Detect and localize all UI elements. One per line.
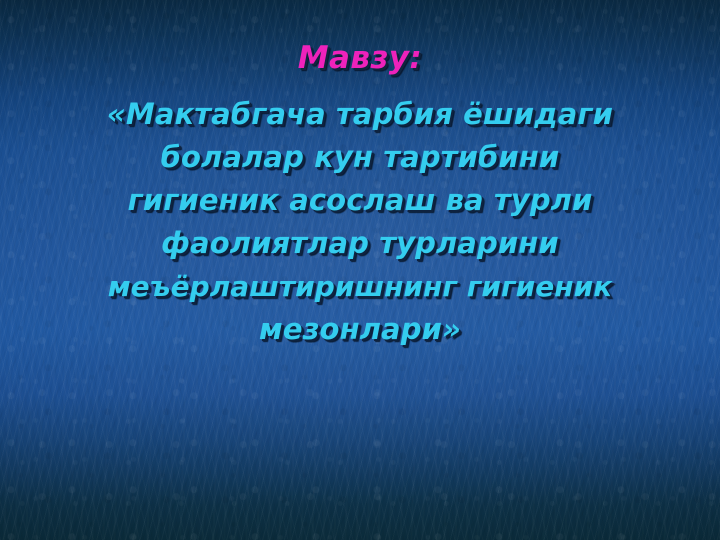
- body-line-1: «Мактабгача тарбия ёшидаги: [0, 93, 720, 136]
- presentation-slide: Мавзу: «Мактабгача тарбия ёшидаги болала…: [0, 0, 720, 540]
- body-line-2: болалар кун тартибини: [0, 136, 720, 179]
- body-line-5: меъёрлаштиришнинг гигиеник: [0, 265, 720, 308]
- body-line-6: мезонлари»: [0, 308, 720, 351]
- slide-heading: Мавзу:: [0, 40, 720, 76]
- slide-body: «Мактабгача тарбия ёшидаги болалар кун т…: [0, 93, 720, 351]
- body-line-3: гигиеник асослаш ва турли: [0, 179, 720, 222]
- body-line-4: фаолиятлар турларини: [0, 222, 720, 265]
- slide-content: Мавзу: «Мактабгача тарбия ёшидаги болала…: [0, 0, 720, 540]
